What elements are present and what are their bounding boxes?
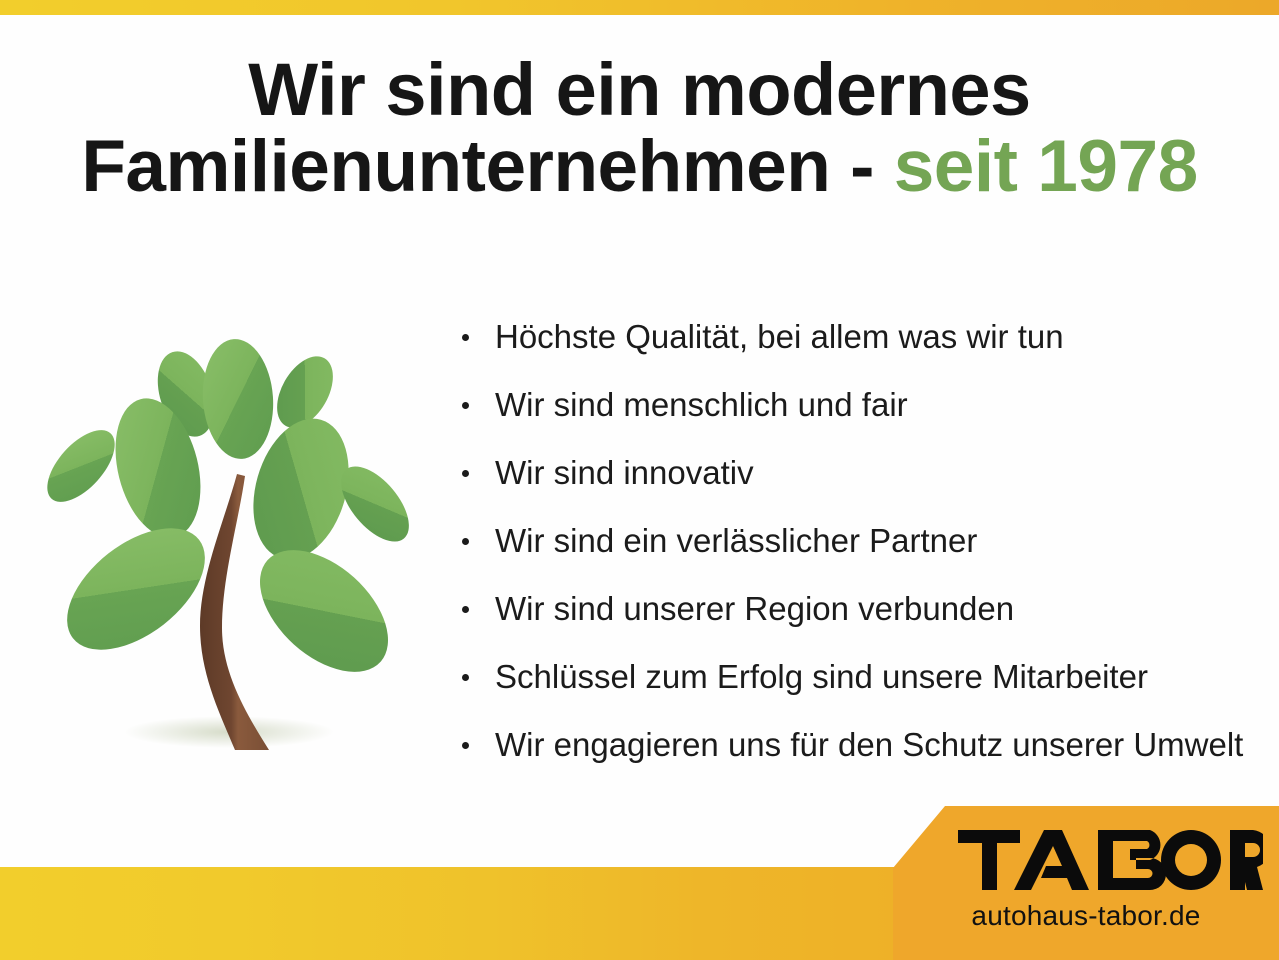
tabor-wordmark-logo xyxy=(958,830,1263,890)
list-item-label: Wir sind ein verlässlicher Partner xyxy=(495,522,977,559)
headline-line-1: Wir sind ein modernes xyxy=(0,52,1279,129)
bullet-dot-icon xyxy=(462,538,469,545)
slide-canvas: Wir sind ein modernes Familienunternehme… xyxy=(0,0,1279,960)
bullet-dot-icon xyxy=(462,674,469,681)
list-item-label: Wir engagieren uns für den Schutz unsere… xyxy=(495,726,1243,763)
bullet-dot-icon xyxy=(462,334,469,341)
headline-line-2: Familienunternehmen - seit 1978 xyxy=(0,129,1279,205)
list-item: Wir sind ein verlässlicher Partner xyxy=(455,507,1265,575)
tree-illustration xyxy=(24,326,436,776)
bullet-dot-icon xyxy=(462,402,469,409)
list-item-label: Wir sind menschlich und fair xyxy=(495,386,908,423)
list-item: Höchste Qualität, bei allem was wir tun xyxy=(455,303,1265,371)
headline-line-2-main: Familienunternehmen - xyxy=(81,126,893,207)
leaf-lower-right xyxy=(237,527,410,696)
list-item-label: Schlüssel zum Erfolg sind unsere Mitarbe… xyxy=(495,658,1148,695)
value-bullet-list: Höchste Qualität, bei allem was wir tun … xyxy=(455,303,1265,779)
list-item-label: Höchste Qualität, bei allem was wir tun xyxy=(495,318,1064,355)
list-item: Wir sind innovativ xyxy=(455,439,1265,507)
brand-logo-panel[interactable]: autohaus-tabor.de xyxy=(893,806,1279,960)
bullet-dot-icon xyxy=(462,742,469,749)
brand-website-url[interactable]: autohaus-tabor.de xyxy=(893,900,1279,932)
leaf-lower-left xyxy=(45,504,226,673)
list-item-label: Wir sind innovativ xyxy=(495,454,754,491)
list-item: Wir sind menschlich und fair xyxy=(455,371,1265,439)
leaf-far-left xyxy=(35,419,127,514)
bullet-dot-icon xyxy=(462,606,469,613)
top-accent-bar xyxy=(0,0,1279,15)
list-item-label: Wir sind unserer Region verbunden xyxy=(495,590,1014,627)
list-item: Schlüssel zum Erfolg sind unsere Mitarbe… xyxy=(455,643,1265,711)
page-title: Wir sind ein modernes Familienunternehme… xyxy=(0,52,1279,205)
bullet-dot-icon xyxy=(462,470,469,477)
leaf-top-center xyxy=(199,337,277,462)
list-item: Wir sind unserer Region verbunden xyxy=(455,575,1265,643)
list-item: Wir engagieren uns für den Schutz unsere… xyxy=(455,711,1265,779)
headline-year-accent: seit 1978 xyxy=(894,126,1198,207)
